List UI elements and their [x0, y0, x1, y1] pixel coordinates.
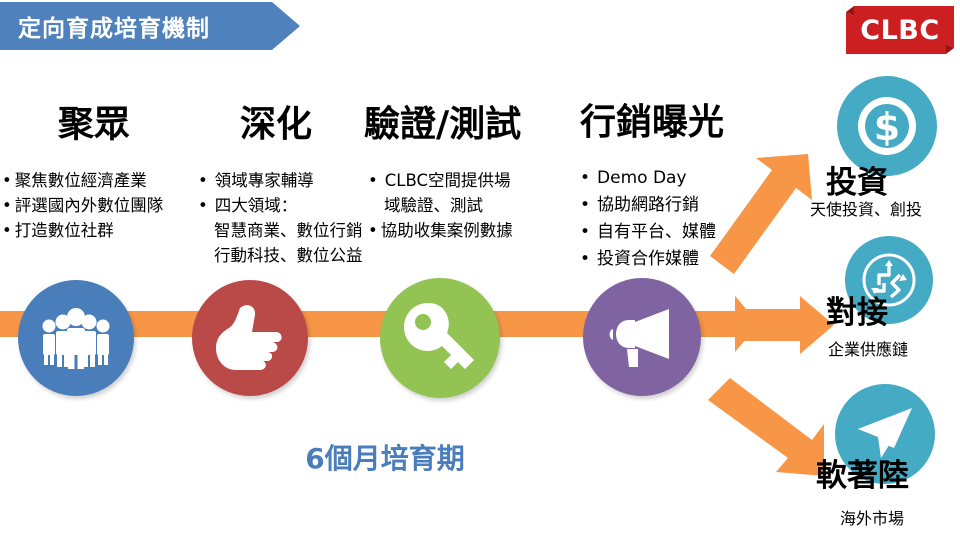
dollar-coin-icon: $ [856, 95, 918, 157]
list-item: 評選國內外數位團隊 [2, 193, 163, 218]
outcome-subtitle-1: 天使投資、創投 [810, 196, 922, 220]
stage-node-4 [583, 278, 701, 396]
stage-bullets-3: CLBC空間提供場 域驗證、測試 協助收集案例數據 [368, 168, 513, 243]
key-icon [401, 300, 479, 376]
list-item: CLBC空間提供場 [368, 168, 513, 193]
list-item: Demo Day [580, 165, 716, 192]
stage-node-1 [18, 280, 134, 396]
pointing-hand-icon [210, 302, 290, 374]
outcome-subtitle-3: 海外市場 [840, 505, 904, 529]
stage-bullets-2: 領域專家輔導 四大領域： 智慧商業、數位行銷 行動科技、數位公益 [198, 168, 363, 268]
outcome-title-3: 軟著陸 [816, 450, 909, 495]
list-item-continuation: 行動科技、數位公益 [198, 243, 363, 268]
list-item: 協助收集案例數據 [368, 218, 513, 243]
stage-heading-2: 深化 [240, 105, 312, 145]
stage-bullets-4: Demo Day 協助網路行銷 自有平台、媒體 投資合作媒體 [580, 165, 716, 273]
list-item-continuation: 智慧商業、數位行銷 [198, 218, 363, 243]
stage-node-3 [380, 278, 500, 398]
stage-bullets-1: 聚焦數位經濟產業 評選國內外數位團隊 打造數位社群 [2, 168, 163, 243]
stage-node-2 [192, 280, 308, 396]
list-item: 打造數位社群 [2, 218, 163, 243]
list-item: 四大領域： [198, 193, 363, 218]
infographic-canvas: 定向育成培育機制 CLBC 聚眾 深化 驗證/測試 行銷曝光 聚焦數位經濟產業 … [0, 0, 960, 540]
people-group-icon [38, 307, 114, 369]
stage-heading-1: 聚眾 [58, 105, 130, 145]
duration-label: 6個月培育期 [250, 437, 520, 477]
svg-text:$: $ [874, 105, 900, 149]
stage-heading-4: 行銷曝光 [580, 103, 724, 143]
megaphone-icon [605, 305, 679, 369]
list-item-continuation: 域驗證、測試 [368, 193, 513, 218]
list-item: 自有平台、媒體 [580, 219, 716, 246]
stage-heading-3: 驗證/測試 [364, 105, 521, 145]
outcome-title-2: 對接 [826, 287, 888, 332]
list-item: 協助網路行銷 [580, 192, 716, 219]
outcome-subtitle-2: 企業供應鏈 [828, 336, 908, 360]
clbc-logo-text: CLBC [846, 6, 954, 54]
list-item: 領域專家輔導 [198, 168, 363, 193]
arrow-up-right [700, 152, 820, 287]
arrow-down-right [700, 378, 830, 488]
list-item: 聚焦數位經濟產業 [2, 168, 163, 193]
arrow-right [744, 296, 834, 354]
page-title: 定向育成培育機制 [18, 2, 278, 50]
list-item: 投資合作媒體 [580, 246, 716, 273]
